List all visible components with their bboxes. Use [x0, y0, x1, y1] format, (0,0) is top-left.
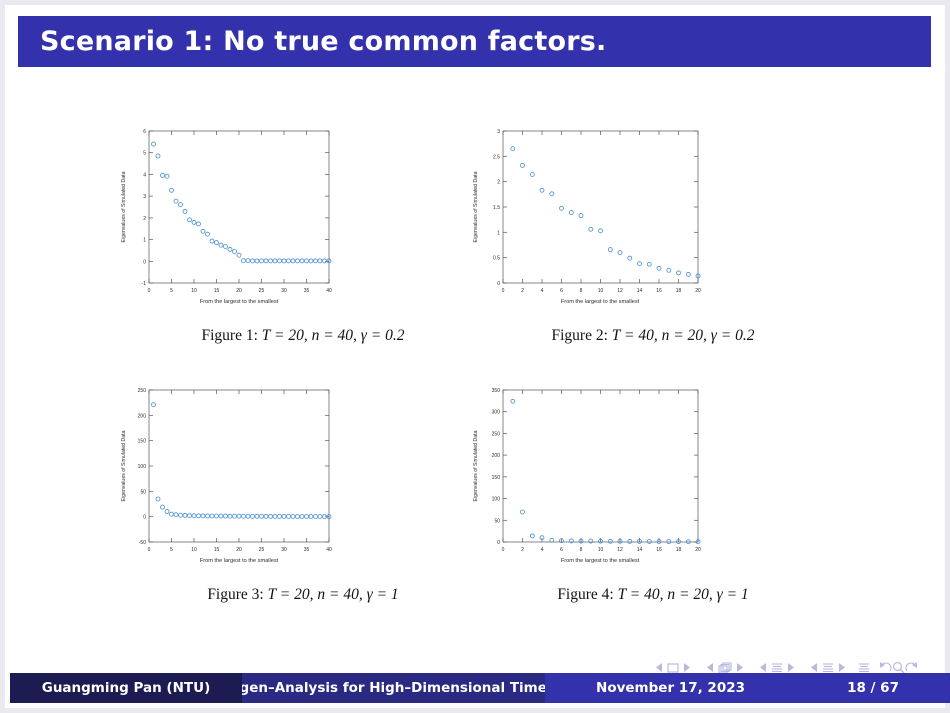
svg-text:250: 250 — [138, 388, 147, 394]
svg-text:-1: -1 — [142, 281, 147, 287]
footer-date: November 17, 2023 — [584, 680, 757, 696]
svg-text:3: 3 — [497, 129, 500, 135]
slide-next-icon[interactable] — [683, 663, 690, 672]
svg-text:0: 0 — [502, 288, 505, 294]
svg-text:25: 25 — [259, 547, 265, 553]
subsection-nav-group[interactable] — [756, 662, 798, 674]
figure-4-caption-prefix: Figure 4: — [557, 586, 613, 603]
svg-text:1: 1 — [497, 230, 500, 236]
footer-meta: November 17, 2023 18 / 67 — [545, 673, 950, 703]
svg-text:5: 5 — [170, 547, 173, 553]
svg-text:40: 40 — [326, 288, 332, 294]
chart-1-svg: -10 12 34 56 — [113, 123, 338, 308]
svg-text:0: 0 — [502, 547, 505, 553]
figure-3-caption-math: T = 20, n = 40, γ = 1 — [268, 586, 399, 603]
svg-text:250: 250 — [492, 431, 501, 437]
svg-text:5: 5 — [170, 288, 173, 294]
svg-text:6: 6 — [560, 547, 563, 553]
svg-text:2.5: 2.5 — [493, 154, 500, 160]
svg-text:4: 4 — [541, 547, 544, 553]
svg-text:40: 40 — [326, 547, 332, 553]
chart-2-ylabel: Eigenvalues of Simulated Data — [473, 171, 479, 242]
slide-prev-icon[interactable] — [656, 663, 663, 672]
slide-current-icon[interactable] — [667, 663, 679, 673]
svg-text:2: 2 — [521, 547, 524, 553]
figure-1-caption: Figure 1: T = 20, n = 40, γ = 0.2 — [113, 327, 493, 345]
figure-3-caption: Figure 3: T = 20, n = 40, γ = 1 — [113, 586, 493, 604]
svg-text:2: 2 — [521, 288, 524, 294]
subsection-current-icon[interactable] — [771, 662, 783, 674]
svg-text:0: 0 — [148, 288, 151, 294]
figure-1-caption-math: T = 20, n = 40, γ = 0.2 — [262, 327, 405, 344]
svg-text:20: 20 — [236, 288, 242, 294]
svg-text:350: 350 — [492, 388, 501, 394]
footer-author: Guangming Pan (NTU) — [10, 673, 242, 703]
svg-text:3: 3 — [143, 194, 146, 200]
svg-text:20: 20 — [236, 547, 242, 553]
svg-text:6: 6 — [560, 288, 563, 294]
figure-2-caption-prefix: Figure 2: — [552, 327, 608, 344]
svg-text:30: 30 — [281, 288, 287, 294]
svg-text:10: 10 — [598, 547, 604, 553]
svg-text:150: 150 — [492, 475, 501, 481]
footer-page-number: 18 / 67 — [835, 680, 911, 696]
svg-text:200: 200 — [492, 453, 501, 459]
svg-text:1.5: 1.5 — [493, 205, 500, 211]
presentation-icon[interactable] — [858, 662, 870, 674]
svg-text:15: 15 — [214, 288, 220, 294]
svg-text:8: 8 — [580, 288, 583, 294]
svg-text:1: 1 — [143, 238, 146, 244]
figure-2-plot: 00.5 11.5 22.5 3 — [463, 123, 843, 313]
svg-text:14: 14 — [637, 288, 643, 294]
chart-2-xlabel: From the largest to the smallest — [561, 299, 640, 305]
svg-text:15: 15 — [214, 547, 220, 553]
svg-text:300: 300 — [492, 410, 501, 416]
figure-2-caption: Figure 2: T = 40, n = 20, γ = 0.2 — [463, 327, 843, 345]
page-title: Scenario 1: No true common factors. — [18, 26, 606, 57]
frame-current-icon[interactable] — [718, 662, 732, 674]
presentation-nav-group[interactable] — [858, 662, 870, 674]
figure-1: -10 12 34 56 — [113, 123, 493, 345]
svg-text:200: 200 — [138, 413, 147, 419]
svg-text:18: 18 — [676, 288, 682, 294]
svg-text:25: 25 — [259, 288, 265, 294]
figure-1-plot: -10 12 34 56 — [113, 123, 493, 313]
slide-nav-group[interactable] — [652, 663, 694, 673]
subsection-prev-icon[interactable] — [760, 663, 767, 672]
svg-text:0.5: 0.5 — [493, 256, 500, 262]
frame-next-icon[interactable] — [736, 663, 743, 672]
figure-3-plot: -500 50100 150200 250 — [113, 382, 493, 572]
frame-nav-group[interactable] — [703, 662, 747, 674]
slide: Scenario 1: No true common factors. — [0, 0, 950, 713]
svg-text:16: 16 — [656, 288, 662, 294]
svg-text:4: 4 — [143, 172, 146, 178]
svg-text:0: 0 — [497, 540, 500, 546]
figure-3: -500 50100 150200 250 — [113, 382, 493, 604]
svg-text:50: 50 — [140, 489, 146, 495]
section-next-icon[interactable] — [838, 663, 845, 672]
svg-text:-50: -50 — [139, 540, 146, 546]
svg-text:12: 12 — [617, 547, 623, 553]
figure-grid: -10 12 34 56 — [5, 71, 950, 651]
svg-text:0: 0 — [143, 259, 146, 265]
frame-prev-icon[interactable] — [707, 663, 714, 672]
svg-text:100: 100 — [138, 464, 147, 470]
figure-2: 00.5 11.5 22.5 3 — [463, 123, 843, 345]
svg-text:14: 14 — [637, 547, 643, 553]
svg-text:2: 2 — [143, 216, 146, 222]
svg-text:0: 0 — [148, 547, 151, 553]
figure-4-plot: 050 100150 200250 300350 — [463, 382, 843, 572]
svg-text:18: 18 — [676, 547, 682, 553]
svg-text:0: 0 — [143, 515, 146, 521]
section-prev-icon[interactable] — [811, 663, 818, 672]
footer-title: Eigen–Analysis for High–Dimensional Time… — [242, 673, 545, 703]
svg-text:30: 30 — [281, 547, 287, 553]
figure-4: 050 100150 200250 300350 — [463, 382, 843, 604]
figure-4-caption: Figure 4: T = 40, n = 20, γ = 1 — [463, 586, 843, 604]
section-nav-group[interactable] — [807, 662, 849, 674]
svg-text:12: 12 — [617, 288, 623, 294]
figure-2-caption-math: T = 40, n = 20, γ = 0.2 — [612, 327, 755, 344]
chart-3-xlabel: From the largest to the smallest — [200, 558, 279, 564]
svg-text:35: 35 — [304, 547, 310, 553]
svg-text:10: 10 — [598, 288, 604, 294]
chart-3-svg: -500 50100 150200 250 — [113, 382, 338, 567]
chart-4-svg: 050 100150 200250 300350 — [463, 382, 723, 567]
svg-text:100: 100 — [492, 497, 501, 503]
svg-text:50: 50 — [494, 518, 500, 524]
svg-text:5: 5 — [143, 151, 146, 157]
svg-text:2: 2 — [497, 180, 500, 186]
svg-text:20: 20 — [695, 547, 701, 553]
chart-2-svg: 00.5 11.5 22.5 3 — [463, 123, 723, 308]
slide-footer: Guangming Pan (NTU) Eigen–Analysis for H… — [10, 673, 950, 703]
section-current-icon[interactable] — [822, 662, 834, 674]
chart-1-xlabel: From the largest to the smallest — [200, 299, 279, 305]
svg-text:8: 8 — [580, 547, 583, 553]
chart-4-xlabel: From the largest to the smallest — [561, 558, 640, 564]
figure-1-caption-prefix: Figure 1: — [202, 327, 258, 344]
figure-4-caption-math: T = 40, n = 20, γ = 1 — [618, 586, 749, 603]
svg-text:10: 10 — [191, 547, 197, 553]
figure-3-caption-prefix: Figure 3: — [207, 586, 263, 603]
svg-text:0: 0 — [497, 281, 500, 287]
chart-1-ylabel: Eigenvalues of Simulated Data — [121, 171, 127, 242]
slide-title-bar: Scenario 1: No true common factors. — [18, 16, 931, 67]
chart-4-ylabel: Eigenvalues of Simulated Data — [473, 430, 479, 501]
svg-text:150: 150 — [138, 439, 147, 445]
subsection-next-icon[interactable] — [787, 663, 794, 672]
svg-text:6: 6 — [143, 129, 146, 135]
chart-3-ylabel: Eigenvalues of Simulated Data — [121, 430, 127, 501]
svg-text:10: 10 — [191, 288, 197, 294]
svg-text:4: 4 — [541, 288, 544, 294]
svg-text:20: 20 — [695, 288, 701, 294]
svg-text:35: 35 — [304, 288, 310, 294]
svg-text:16: 16 — [656, 547, 662, 553]
